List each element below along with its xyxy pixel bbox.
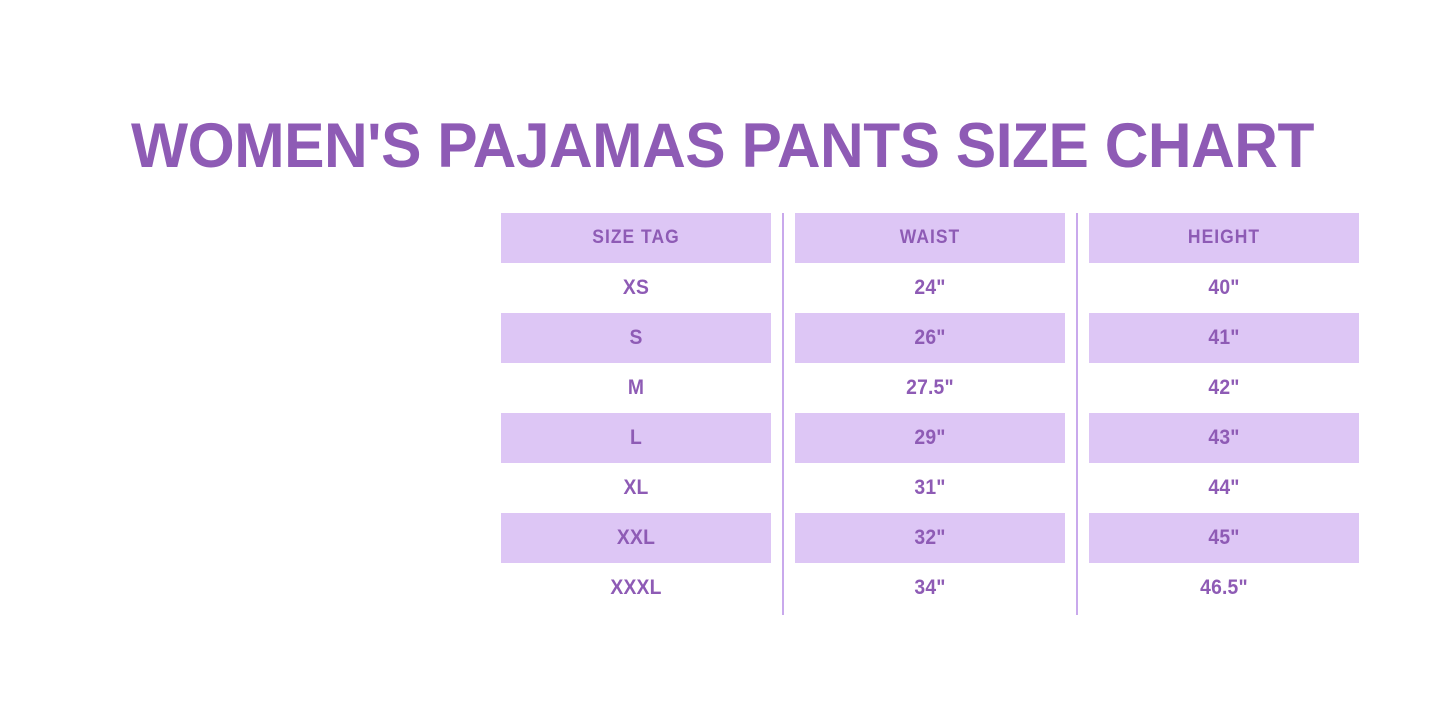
table-body: XS 24" 40" S 26" 41" M 27.5" 42" L 29" bbox=[489, 263, 1371, 613]
table-row: XS 24" 40" bbox=[489, 263, 1371, 313]
cell-size-tag: M bbox=[501, 363, 771, 413]
cell-waist: 31" bbox=[795, 463, 1065, 513]
size-chart-page: WOMEN'S PAJAMAS PANTS SIZE CHART SIZE TA… bbox=[0, 0, 1445, 723]
table-row: M 27.5" 42" bbox=[489, 363, 1371, 413]
cell-height: 43" bbox=[1089, 413, 1359, 463]
column-header-height: HEIGHT bbox=[1089, 213, 1359, 263]
cell-waist: 27.5" bbox=[795, 363, 1065, 413]
table-row: XXL 32" 45" bbox=[489, 513, 1371, 563]
cell-size-tag: XXL bbox=[501, 513, 771, 563]
cell-height: 41" bbox=[1089, 313, 1359, 363]
cell-waist: 29" bbox=[795, 413, 1065, 463]
table-row: L 29" 43" bbox=[489, 413, 1371, 463]
cell-waist: 34" bbox=[795, 563, 1065, 613]
cell-height: 40" bbox=[1089, 263, 1359, 313]
page-title: WOMEN'S PAJAMAS PANTS SIZE CHART bbox=[29, 108, 1416, 184]
column-header-waist: WAIST bbox=[795, 213, 1065, 263]
size-chart-table-container: SIZE TAG WAIST HEIGHT XS 24" 40" S 26" 4… bbox=[489, 213, 1371, 613]
size-chart-table: SIZE TAG WAIST HEIGHT XS 24" 40" S 26" 4… bbox=[489, 213, 1371, 613]
table-row: XXXL 34" 46.5" bbox=[489, 563, 1371, 613]
cell-height: 45" bbox=[1089, 513, 1359, 563]
table-header: SIZE TAG WAIST HEIGHT bbox=[489, 213, 1371, 263]
cell-size-tag: S bbox=[501, 313, 771, 363]
cell-waist: 26" bbox=[795, 313, 1065, 363]
cell-size-tag: XL bbox=[501, 463, 771, 513]
column-header-size-tag: SIZE TAG bbox=[501, 213, 771, 263]
cell-height: 44" bbox=[1089, 463, 1359, 513]
table-header-row: SIZE TAG WAIST HEIGHT bbox=[489, 213, 1371, 263]
cell-size-tag: XXXL bbox=[501, 563, 771, 613]
cell-waist: 24" bbox=[795, 263, 1065, 313]
table-row: XL 31" 44" bbox=[489, 463, 1371, 513]
cell-height: 46.5" bbox=[1089, 563, 1359, 613]
table-row: S 26" 41" bbox=[489, 313, 1371, 363]
cell-waist: 32" bbox=[795, 513, 1065, 563]
cell-height: 42" bbox=[1089, 363, 1359, 413]
cell-size-tag: XS bbox=[501, 263, 771, 313]
cell-size-tag: L bbox=[501, 413, 771, 463]
